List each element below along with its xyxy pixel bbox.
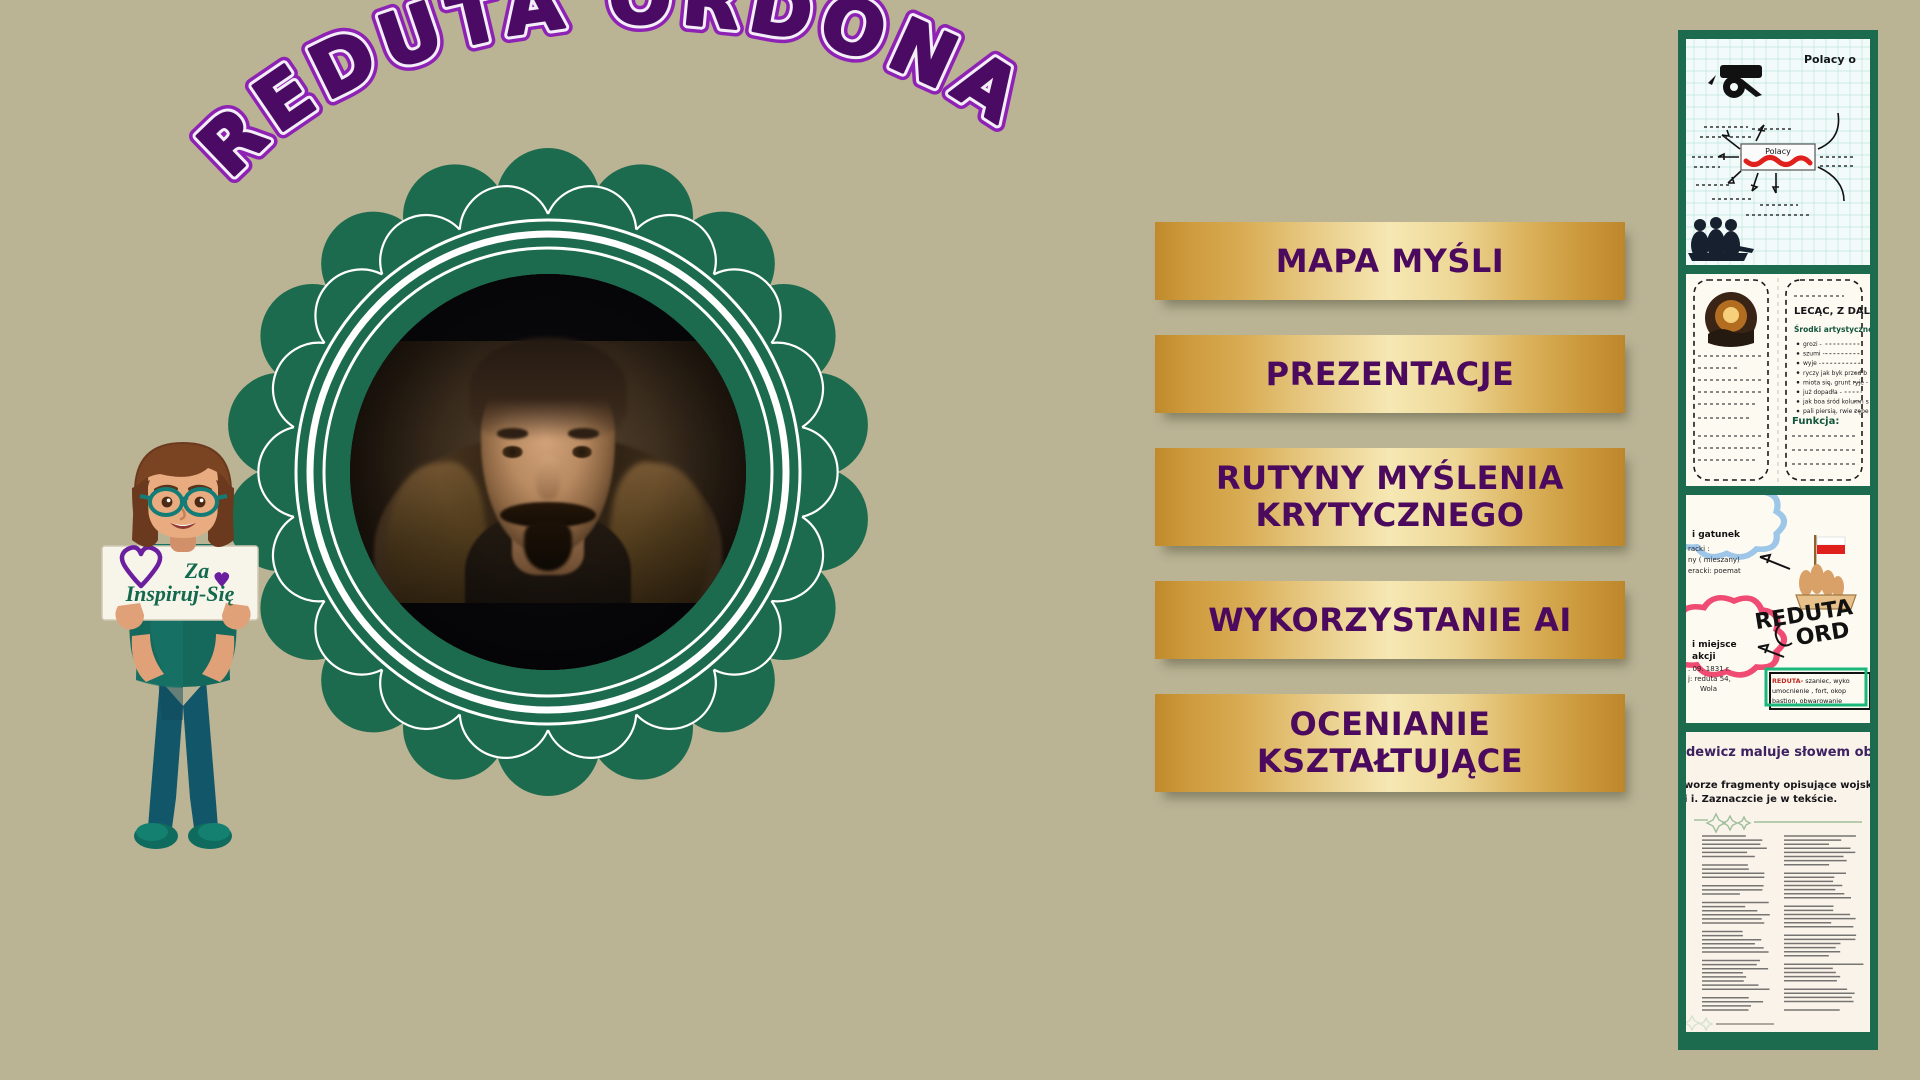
svg-text:eracki: poemat: eracki: poemat: [1688, 567, 1741, 575]
svg-text:Funkcja:: Funkcja:: [1792, 416, 1839, 427]
menu-button-mapa-mysli[interactable]: MAPA MYŚLI: [1155, 222, 1625, 300]
svg-text:grozi -: grozi -: [1803, 341, 1822, 348]
svg-text:Środki artystyczne:: Środki artystyczne:: [1794, 325, 1870, 334]
svg-text:umocnienie , fort, okop: umocnienie , fort, okop: [1772, 687, 1846, 695]
menu-button-rutyny-myslenia-krytycznego[interactable]: RUTYNY MYŚLENIA KRYTYCZNEGO: [1155, 448, 1625, 546]
thumbnail-reduta-ordona-mapa[interactable]: i gatunek racki : ny ( mieszany) eracki:…: [1686, 495, 1870, 723]
svg-text:ny ( mieszany): ny ( mieszany): [1688, 556, 1740, 564]
svg-text:i i. Zaznaczcie je w tekście.: i i. Zaznaczcie je w tekście.: [1686, 793, 1837, 805]
thumbnail-4-graphic: dewicz maluje słowem obraz worze fragmen…: [1686, 732, 1870, 1032]
svg-text:REDUTA- szaniec, wyko: REDUTA- szaniec, wyko: [1772, 677, 1850, 685]
avatar: Za Inspiruj-Się: [88, 430, 278, 860]
menu-button-label: PREZENTACJE: [1266, 356, 1515, 393]
thumbnail-lecac-z-dala[interactable]: LECĄC, Z DALA Środki artystyczne: grozi …: [1686, 274, 1870, 486]
svg-text:j: reduta 54,: j: reduta 54,: [1687, 675, 1731, 683]
avatar-illustration: [88, 430, 278, 860]
svg-text:Wola: Wola: [1700, 685, 1717, 693]
menu-button-label: MAPA MYŚLI: [1276, 243, 1504, 280]
menu-button-label: WYKORZYSTANIE AI: [1208, 602, 1572, 639]
portrait-image: [350, 274, 746, 670]
thumbnail-1-graphic: Polacy o Polacy: [1686, 39, 1870, 265]
menu-button-label: RUTYNY MYŚLENIA KRYTYCZNEGO: [1216, 460, 1564, 534]
svg-text:Polacy: Polacy: [1765, 147, 1791, 156]
svg-text:bastion, obwarowanie: bastion, obwarowanie: [1772, 697, 1842, 705]
slide-canvas: REDUTA ORDONA REDUTA ORDONA REDUTA ORDON…: [0, 0, 1920, 1080]
svg-text:już dopadła -: już dopadła -: [1802, 389, 1842, 396]
menu-button-wykorzystanie-ai[interactable]: WYKORZYSTANIE AI: [1155, 581, 1625, 659]
svg-text:i gatunek: i gatunek: [1692, 530, 1741, 540]
thumbnail-mind-map-polacy[interactable]: Polacy o Polacy: [1686, 39, 1870, 265]
menu-button-list: MAPA MYŚLI PREZENTACJE RUTYNY MYŚLENIA K…: [1155, 222, 1625, 792]
portrait-frame: [218, 142, 878, 802]
svg-text:Polacy o: Polacy o: [1804, 53, 1856, 66]
thumbnail-strip: Polacy o Polacy: [1678, 30, 1878, 1050]
svg-text:LECĄC, Z DALA: LECĄC, Z DALA: [1794, 306, 1870, 317]
svg-text:ryczy jak byk przed b: ryczy jak byk przed b: [1803, 370, 1867, 377]
thumbnail-mickiewicz-obraz[interactable]: dewicz maluje słowem obraz worze fragmen…: [1686, 732, 1870, 1032]
svg-text:szumi -: szumi -: [1803, 351, 1825, 358]
menu-button-label: OCENIANIE KSZTAŁTUJĄCE: [1257, 706, 1523, 780]
svg-text:pali piersią, rwie zębe: pali piersią, rwie zębe: [1803, 408, 1869, 415]
svg-text:akcji: akcji: [1692, 652, 1716, 662]
thumbnail-2-graphic: LECĄC, Z DALA Środki artystyczne: grozi …: [1686, 274, 1870, 486]
svg-text:i miejsce: i miejsce: [1692, 640, 1737, 650]
svg-text:wyje -: wyje -: [1803, 360, 1821, 367]
svg-text:dewicz maluje słowem obraz: dewicz maluje słowem obraz: [1686, 745, 1870, 760]
menu-button-prezentacje[interactable]: PREZENTACJE: [1155, 335, 1625, 413]
svg-text:. 09. 1831 r.: . 09. 1831 r.: [1688, 665, 1730, 673]
svg-text:racki :: racki :: [1688, 545, 1710, 553]
menu-button-ocenianie-ksztaltujace[interactable]: OCENIANIE KSZTAŁTUJĄCE: [1155, 694, 1625, 792]
svg-text:worze fragmenty opisujące wojs: worze fragmenty opisujące wojska polskie: [1686, 780, 1870, 791]
thumbnail-3-graphic: i gatunek racki : ny ( mieszany) eracki:…: [1686, 495, 1870, 723]
